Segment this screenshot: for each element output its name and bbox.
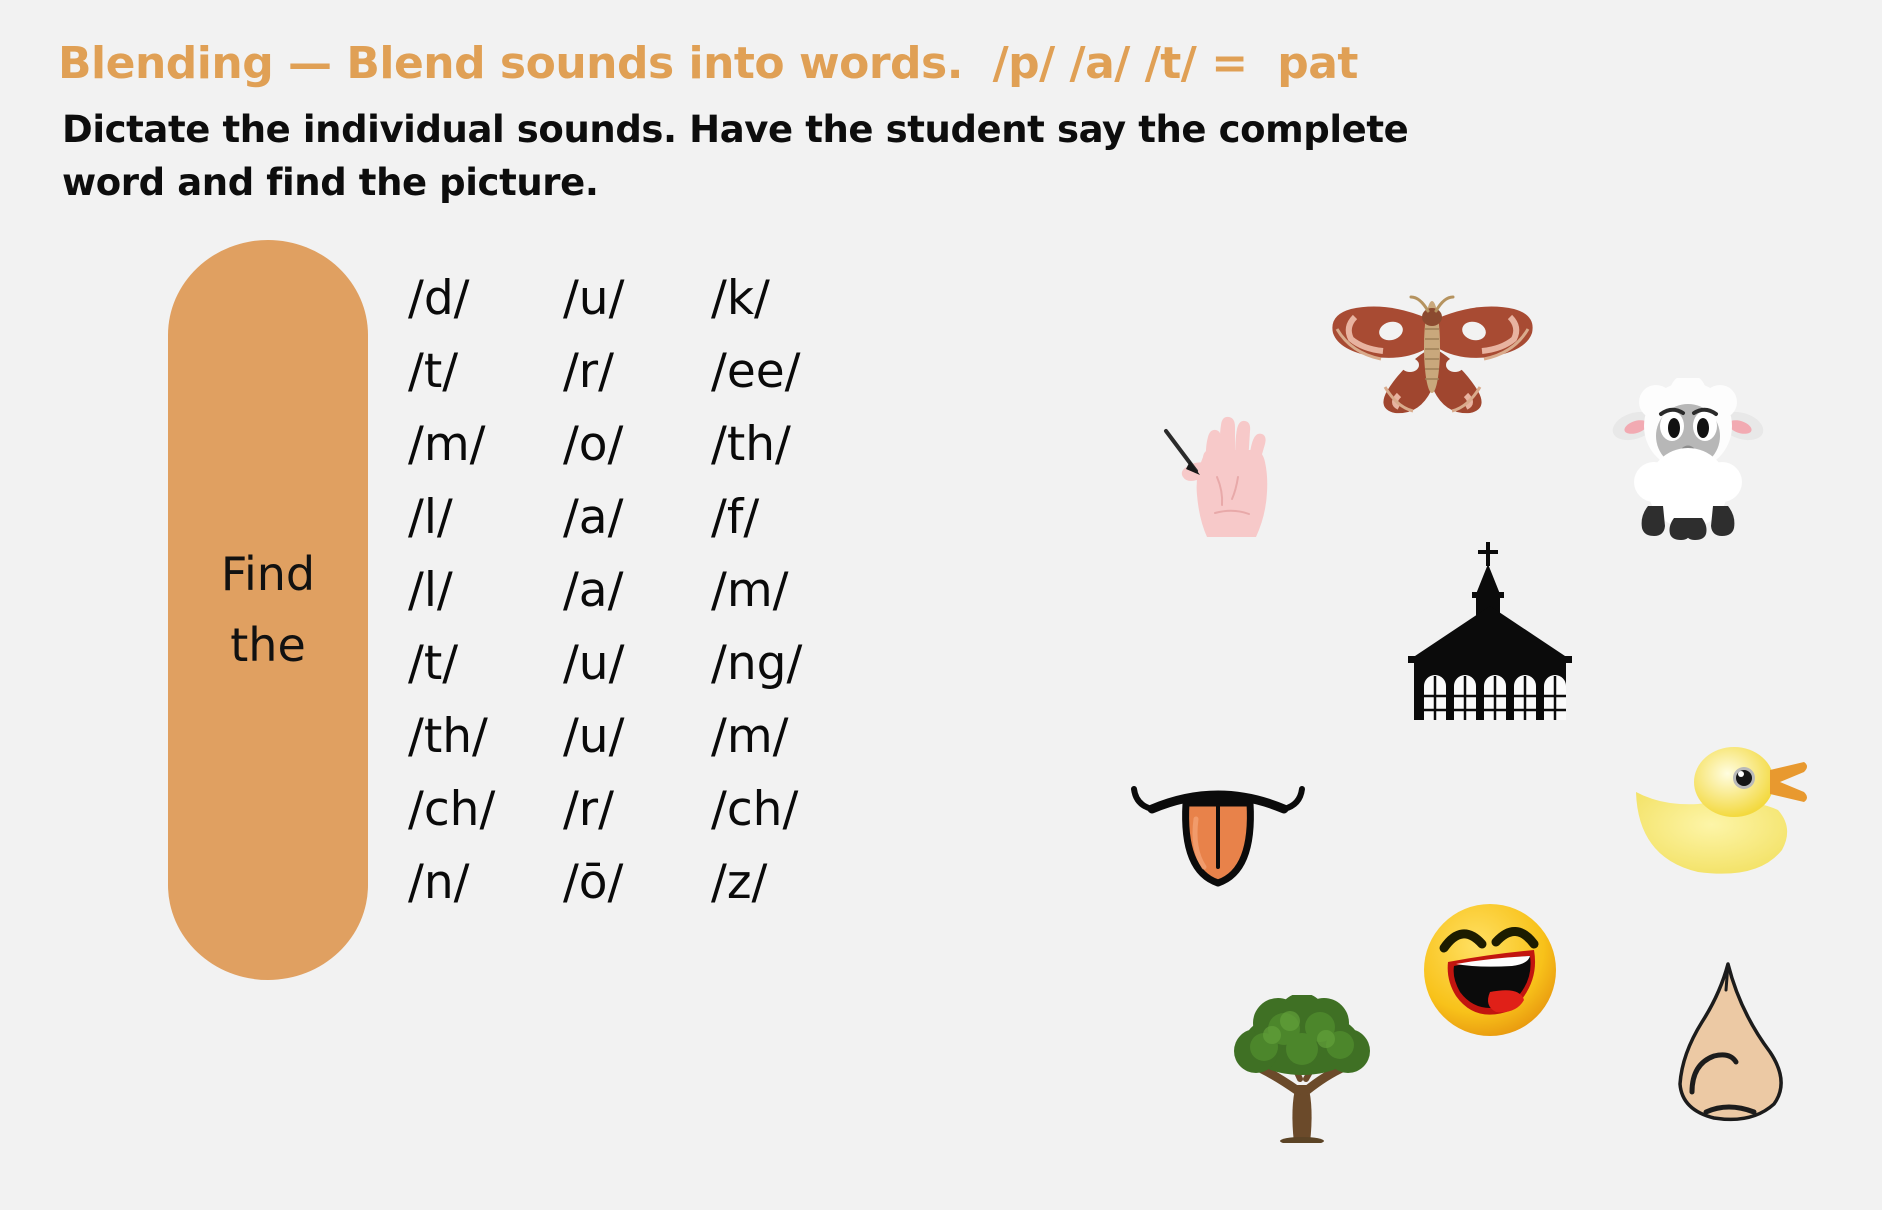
nose-picture [1666, 960, 1796, 1125]
find-the-pill: Find the [168, 240, 368, 980]
phoneme-cell: /u/ [555, 636, 699, 691]
phoneme-row: /m/ /o/ /th/ [408, 408, 848, 481]
phoneme-row: /l/ /a/ /f/ [408, 481, 848, 554]
phoneme-row: /l/ /a/ /m/ [408, 554, 848, 627]
hand-picture [1160, 405, 1290, 540]
moth-picture [1325, 295, 1540, 415]
phoneme-row: /t/ /r/ /ee/ [408, 335, 848, 408]
lamb-picture [1608, 378, 1768, 540]
phoneme-cell: /a/ [555, 563, 699, 618]
phoneme-cell: /u/ [555, 709, 699, 764]
phoneme-cell: /t/ [408, 344, 555, 399]
phoneme-cell: /r/ [555, 344, 699, 399]
find-the-label: Find the [221, 539, 315, 682]
phoneme-cell: /d/ [408, 271, 555, 326]
smiley-picture [1420, 900, 1560, 1040]
phoneme-row: /d/ /u/ /k/ [408, 262, 848, 335]
phoneme-cell: /ō/ [555, 855, 699, 910]
phoneme-cell: /l/ [408, 490, 555, 545]
phoneme-cell: /u/ [555, 271, 699, 326]
phoneme-grid: /d/ /u/ /k/ /t/ /r/ /ee/ /m/ /o/ /th/ /l… [408, 262, 848, 919]
phoneme-row: /n/ /ō/ /z/ [408, 846, 848, 919]
phoneme-row: /ch/ /r/ /ch/ [408, 773, 848, 846]
phoneme-cell: /n/ [408, 855, 555, 910]
phoneme-cell: /m/ [699, 563, 848, 618]
phoneme-cell: /m/ [408, 417, 555, 472]
phoneme-cell: /ch/ [699, 782, 848, 837]
phoneme-cell: /ng/ [699, 636, 848, 691]
instructions-text: Dictate the individual sounds. Have the … [62, 104, 1522, 209]
phoneme-cell: /k/ [699, 271, 848, 326]
phoneme-row: /th/ /u/ /m/ [408, 700, 848, 773]
phoneme-cell: /z/ [699, 855, 848, 910]
phoneme-cell: /th/ [699, 417, 848, 472]
phoneme-cell: /a/ [555, 490, 699, 545]
tree-picture [1228, 995, 1376, 1143]
phoneme-cell: /l/ [408, 563, 555, 618]
church-picture [1400, 540, 1580, 720]
phoneme-cell: /m/ [699, 709, 848, 764]
phoneme-cell: /th/ [408, 709, 555, 764]
tongue-picture [1128, 775, 1308, 895]
phoneme-row: /t/ /u/ /ng/ [408, 627, 848, 700]
duck-picture [1628, 740, 1828, 900]
page-title: Blending — Blend sounds into words. /p/ … [58, 38, 1358, 89]
phoneme-cell: /t/ [408, 636, 555, 691]
worksheet-slide: Blending — Blend sounds into words. /p/ … [0, 0, 1882, 1210]
phoneme-cell: /f/ [699, 490, 848, 545]
phoneme-cell: /ch/ [408, 782, 555, 837]
phoneme-cell: /o/ [555, 417, 699, 472]
phoneme-cell: /ee/ [699, 344, 848, 399]
phoneme-cell: /r/ [555, 782, 699, 837]
